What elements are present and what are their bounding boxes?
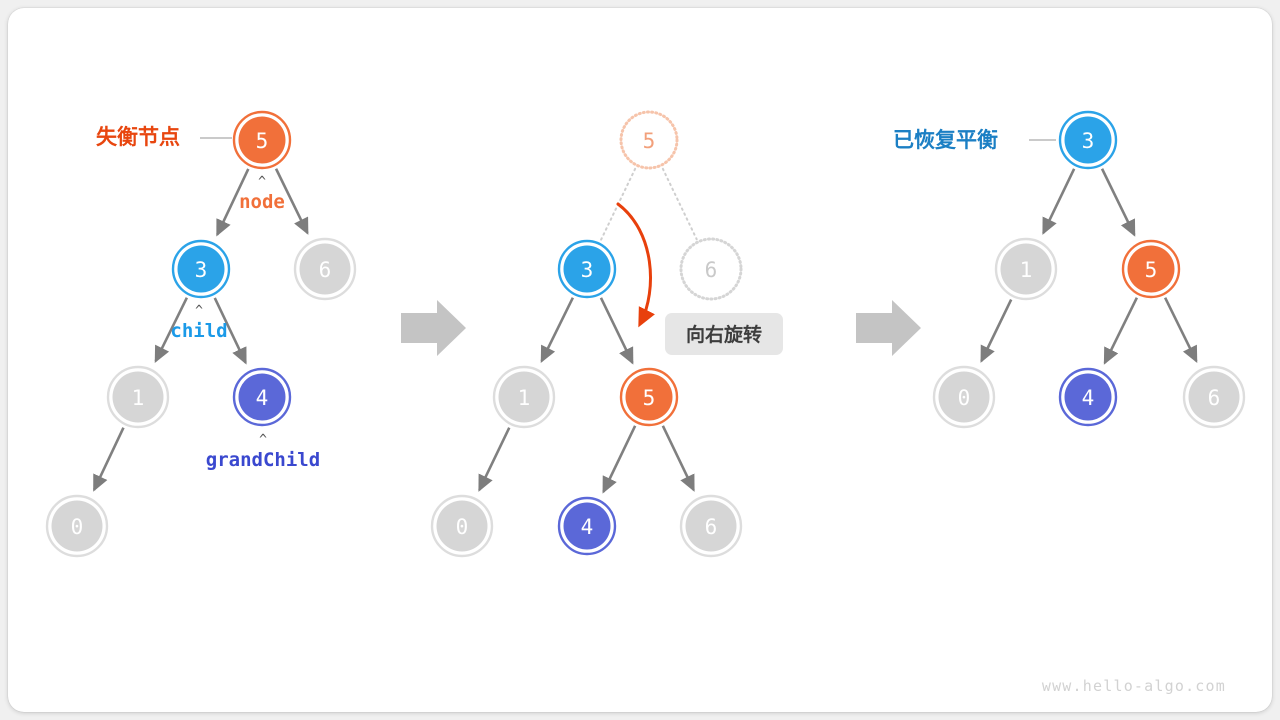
node-variable-label: node — [239, 191, 285, 213]
tree-node: 3 — [1060, 112, 1116, 168]
tree-node: 6 — [1184, 367, 1244, 427]
tree-node: 0 — [47, 496, 107, 556]
node-caret: ^ — [258, 175, 266, 190]
tree-edge — [603, 426, 635, 492]
tree-edge — [1043, 169, 1074, 233]
tree-node: 5 — [621, 112, 677, 168]
tree-node: 4 — [1060, 369, 1116, 425]
tree-node: 3 — [173, 241, 229, 297]
tree-node: 1 — [108, 367, 168, 427]
tree-edge — [1165, 298, 1196, 361]
operation-badge-label: 向右旋转 — [686, 323, 762, 346]
tree-node: 5 — [234, 112, 290, 168]
node-value: 5 — [256, 129, 269, 153]
tree-node: 4 — [234, 369, 290, 425]
tree-node: 5 — [1123, 241, 1179, 297]
annotation-unbalanced-node: 失衡节点 — [96, 125, 232, 149]
node-value: 1 — [518, 386, 531, 410]
node-value: 3 — [195, 258, 208, 282]
node-value: 6 — [1208, 386, 1221, 410]
tree-node: 6 — [681, 496, 741, 556]
transition-arrow-1 — [401, 300, 466, 356]
node-value: 6 — [319, 258, 332, 282]
rebalanced-label: 已恢复平衡 — [893, 128, 998, 152]
child-caret: ^ — [195, 304, 203, 319]
tree-node: 0 — [934, 367, 994, 427]
tree-edge — [479, 428, 509, 490]
grandchild-variable-label: grandChild — [206, 449, 320, 471]
tree-node: 3 — [559, 241, 615, 297]
tree-node: 0 — [432, 496, 492, 556]
callout-node: ^ node — [239, 175, 285, 214]
diagram-canvas: 53614056315046315046 失衡节点 已恢复平衡 ^ node ^… — [0, 0, 1280, 720]
node-value: 6 — [705, 515, 718, 539]
transition-arrow-2 — [856, 300, 921, 356]
node-value: 3 — [581, 258, 594, 282]
unbalanced-node-label: 失衡节点 — [96, 125, 180, 149]
tree-edge — [1102, 169, 1134, 235]
node-value: 0 — [456, 515, 469, 539]
node-value: 6 — [705, 258, 718, 282]
node-value: 0 — [958, 386, 971, 410]
avl-rotation-diagram: 53614056315046315046 失衡节点 已恢复平衡 ^ node ^… — [0, 0, 1280, 720]
node-value: 4 — [256, 386, 269, 410]
tree-edge — [981, 300, 1011, 361]
tree-node: 1 — [996, 239, 1056, 299]
tree-node: 1 — [494, 367, 554, 427]
node-value: 4 — [581, 515, 594, 539]
annotation-rebalanced: 已恢复平衡 — [893, 128, 1056, 152]
rotation-arc — [618, 204, 651, 322]
grandchild-caret: ^ — [259, 433, 267, 448]
node-value: 5 — [643, 129, 656, 153]
node-value: 3 — [1082, 129, 1095, 153]
tree-node: 6 — [681, 239, 741, 299]
child-variable-label: child — [170, 320, 227, 342]
callout-grandchild: ^ grandChild — [206, 433, 320, 472]
tree-edge — [601, 298, 632, 363]
tree-edge — [542, 298, 573, 361]
tree-node: 5 — [621, 369, 677, 425]
tree-edge — [94, 428, 123, 490]
watermark-text: www.hello-algo.com — [1042, 677, 1226, 695]
tree-edge — [663, 169, 697, 239]
operation-badge: 向右旋转 — [665, 313, 783, 355]
node-value: 5 — [643, 386, 656, 410]
tree-edge — [1105, 298, 1137, 363]
node-value: 1 — [1020, 258, 1033, 282]
node-value: 4 — [1082, 386, 1095, 410]
node-value: 1 — [132, 386, 145, 410]
node-value: 0 — [71, 515, 84, 539]
tree-node: 6 — [295, 239, 355, 299]
node-value: 5 — [1145, 258, 1158, 282]
tree-edge — [663, 426, 694, 490]
tree-node: 4 — [559, 498, 615, 554]
